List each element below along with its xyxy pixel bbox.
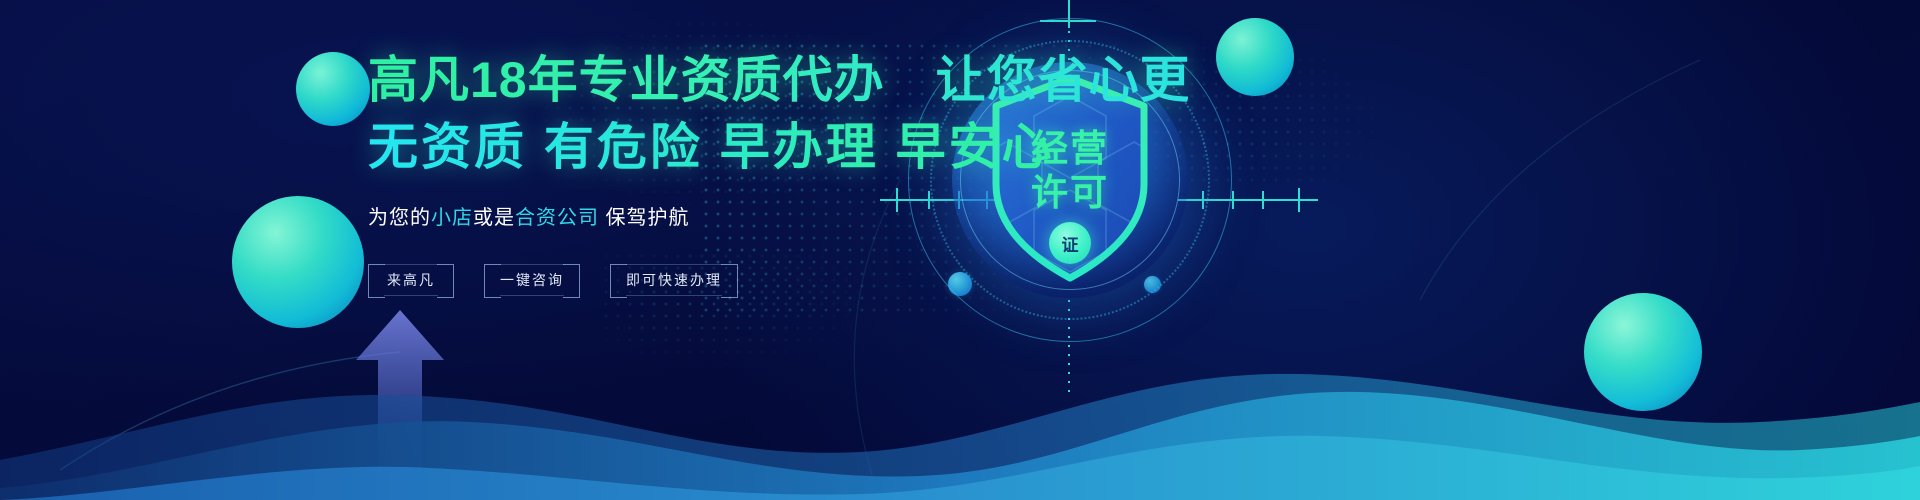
subtitle-part-2: 或是 [473,207,515,229]
button-edge-bottom [384,295,438,296]
cta-button-label: 一键咨询 [500,270,564,290]
cta-button-fast-processing[interactable]: 即可快速办理 [610,264,738,296]
headline-primary: 高凡18年专业资质代办 让您省心更省力 [368,52,1188,108]
button-edge-bottom [500,295,564,296]
wave-decoration [0,310,1920,500]
headline-secondary: 无资质 有危险 早办理 早安心 [368,120,1188,175]
banner-content: 高凡18年专业资质代办 让您省心更省力 无资质 有危险 早办理 早安心 为您的小… [368,52,1188,296]
subtitle-part-3: 保驾护航 [599,207,690,229]
subtitle-part-1: 为您的 [368,207,431,229]
promo-banner: 经营 许可 证 [0,0,1920,500]
button-edge-top [626,264,722,265]
subtitle-highlight-shop: 小店 [431,207,473,229]
cta-button-label: 来高凡 [387,270,435,290]
button-edge-bottom [626,295,722,296]
cta-button-label: 即可快速办理 [626,270,722,290]
button-edge-top [500,264,564,265]
button-edge-top [384,264,438,265]
banner-subtitle: 为您的小店或是合资公司 保驾护航 [368,201,1188,230]
cta-button-come-to-gaofan[interactable]: 来高凡 [368,264,454,296]
cta-button-one-click-consult[interactable]: 一键咨询 [484,264,580,296]
subtitle-highlight-joint-venture: 合资公司 [515,207,599,229]
cta-button-row: 来高凡 一键咨询 即可快速办理 [368,264,1188,296]
